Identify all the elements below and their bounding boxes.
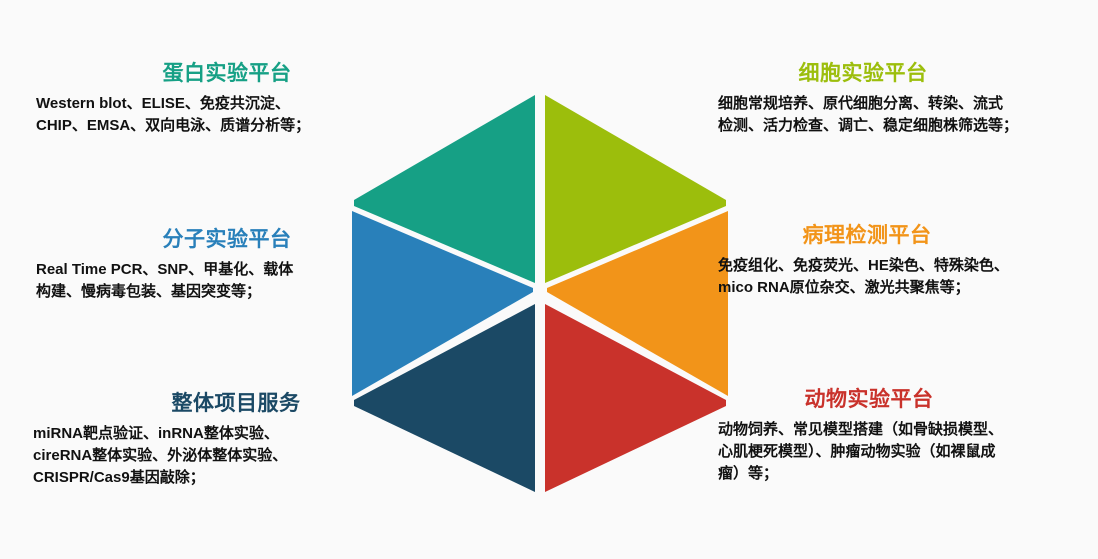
panel-overall-body: miRNA靶点验证、inRNA整体实验、 cireRNA整体实验、外泌体整体实验… <box>33 423 373 488</box>
panel-protein-body: Western blot、ELISE、免疫共沉淀、 CHIP、EMSA、双向电泳… <box>36 93 376 137</box>
panel-cell-line-2: 检测、活力检查、调亡、稳定细胞株筛选等； <box>718 115 1086 137</box>
panel-animal-line-1: 动物饲养、常见模型搭建（如骨缺损模型、 <box>718 419 1090 441</box>
hexagon-wheel-diagram <box>340 78 740 508</box>
panel-animal-line-2: 心肌梗死模型）、肿瘤动物实验（如裸鼠成 <box>718 441 1090 463</box>
panel-protein-line-2: CHIP、EMSA、双向电泳、质谱分析等； <box>36 115 376 137</box>
panel-molecular-body: Real Time PCR、SNP、甲基化、载体 构建、慢病毒包装、基因突变等； <box>36 259 376 303</box>
panel-cell: 细胞实验平台 细胞常规培养、原代细胞分离、转染、流式 检测、活力检查、调亡、稳定… <box>718 62 1086 137</box>
panel-animal-body: 动物饲养、常见模型搭建（如骨缺损模型、 心肌梗死模型）、肿瘤动物实验（如裸鼠成 … <box>718 419 1090 484</box>
panel-protein-title: 蛋白实验平台 <box>36 62 376 86</box>
panel-cell-line-1: 细胞常规培养、原代细胞分离、转染、流式 <box>718 93 1086 115</box>
panel-protein: 蛋白实验平台 Western blot、ELISE、免疫共沉淀、 CHIP、EM… <box>36 62 376 137</box>
panel-pathology: 病理检测平台 免疫组化、免疫荧光、HE染色、特殊染色、 mico RNA原位杂交… <box>718 224 1086 299</box>
panel-molecular-line-1: Real Time PCR、SNP、甲基化、载体 <box>36 259 376 281</box>
panel-pathology-line-1: 免疫组化、免疫荧光、HE染色、特殊染色、 <box>718 255 1086 277</box>
panel-molecular: 分子实验平台 Real Time PCR、SNP、甲基化、载体 构建、慢病毒包装… <box>36 228 376 303</box>
panel-overall-line-1: miRNA靶点验证、inRNA整体实验、 <box>33 423 373 445</box>
panel-animal: 动物实验平台 动物饲养、常见模型搭建（如骨缺损模型、 心肌梗死模型）、肿瘤动物实… <box>718 388 1090 484</box>
panel-overall-line-2: cireRNA整体实验、外泌体整体实验、 <box>33 445 373 467</box>
panel-overall: 整体项目服务 miRNA靶点验证、inRNA整体实验、 cireRNA整体实验、… <box>33 392 373 488</box>
panel-molecular-line-2: 构建、慢病毒包装、基因突变等； <box>36 281 376 303</box>
panel-overall-title: 整体项目服务 <box>33 392 373 416</box>
panel-pathology-title: 病理检测平台 <box>718 224 1086 248</box>
panel-cell-body: 细胞常规培养、原代细胞分离、转染、流式 检测、活力检查、调亡、稳定细胞株筛选等； <box>718 93 1086 137</box>
panel-overall-line-3: CRISPR/Cas9基因敲除； <box>33 467 373 489</box>
panel-protein-line-1: Western blot、ELISE、免疫共沉淀、 <box>36 93 376 115</box>
panel-cell-title: 细胞实验平台 <box>718 62 1086 86</box>
panel-molecular-title: 分子实验平台 <box>36 228 376 252</box>
infographic-page: 蛋白实验平台 Western blot、ELISE、免疫共沉淀、 CHIP、EM… <box>0 0 1098 559</box>
panel-pathology-body: 免疫组化、免疫荧光、HE染色、特殊染色、 mico RNA原位杂交、激光共聚焦等… <box>718 255 1086 299</box>
panel-animal-title: 动物实验平台 <box>718 388 1090 412</box>
panel-pathology-line-2: mico RNA原位杂交、激光共聚焦等； <box>718 277 1086 299</box>
panel-animal-line-3: 瘤）等； <box>718 463 1090 485</box>
